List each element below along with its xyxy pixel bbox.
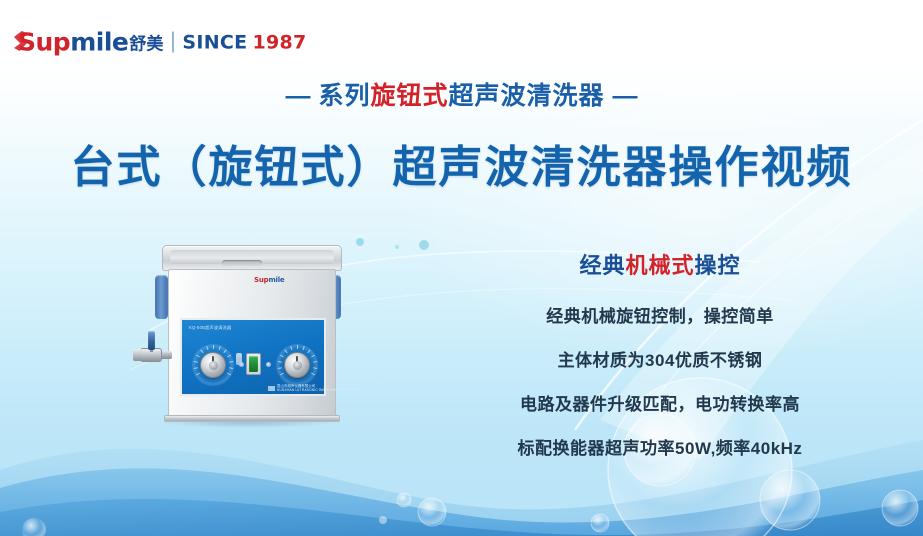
power-switch-rocker[interactable] [249, 356, 258, 372]
logo-chinese-name: 舒美 [129, 30, 163, 55]
product-brand-red: Sup [254, 276, 268, 284]
logo-mile-text: mile [70, 28, 128, 57]
indicator-led-right [266, 362, 271, 367]
ultrasonic-cleaner-image: Supmile KQ-50B超声波清洗器 [150, 245, 346, 425]
feature-list: 经典机械式操控 经典机械旋钮控制，操控简单 主体材质为304优质不锈钢 电路及器… [470, 248, 850, 459]
tank-lid-grip [222, 260, 262, 266]
control-panel-model-label: KQ-50B超声波清洗器 [189, 325, 231, 331]
subtitle-part-one: 系列 [318, 82, 370, 110]
feature-heading-highlight: 机械式 [625, 253, 694, 278]
poster-canvas: Supmile舒美 SINCE 1987 — 系列旋钮式超声波清洗器 — 台式（… [0, 0, 923, 536]
drain-valve-handle[interactable] [148, 331, 155, 350]
page-title: 台式（旋钮式）超声波清洗器操作视频 [0, 131, 923, 195]
panel-footer-subtext: KUNSHAN ULTRASONIC INSTRUMENT CO.,LTD [277, 388, 357, 392]
heater-knob[interactable] [284, 352, 310, 378]
brand-logo[interactable]: Supmile舒美 SINCE 1987 [18, 28, 307, 57]
feature-line: 标配换能器超声功率50W,频率40kHz [470, 434, 850, 459]
logo-sup-text: Sup [18, 28, 70, 57]
tank-lid [162, 245, 342, 271]
subtitle-dash-right: — [612, 82, 637, 110]
page-header: Supmile舒美 SINCE 1987 [0, 0, 923, 62]
logo-year-text: 1987 [252, 31, 306, 53]
subtitle-highlight: 旋钮式 [370, 82, 448, 110]
feature-heading-part-one: 经典 [579, 253, 625, 278]
panel-manufacturer-mark: 昆山市超声仪器有限公司 KUNSHAN ULTRASONIC INSTRUMEN… [268, 384, 357, 393]
drain-valve-nut [133, 349, 142, 361]
neon-lamp [236, 353, 242, 365]
product-brand-label: Supmile [254, 276, 284, 284]
timer-knob-assembly[interactable] [192, 344, 234, 386]
product-base [164, 415, 340, 422]
feature-heading-part-two: 操控 [695, 253, 741, 278]
control-panel: KQ-50B超声波清洗器 [180, 318, 326, 396]
power-switch[interactable] [246, 353, 261, 375]
heater-knob-assembly[interactable] [276, 344, 318, 386]
subtitle-dash-left: — [286, 82, 311, 110]
timer-knob[interactable] [200, 352, 226, 378]
timer-knob-hub [209, 361, 218, 370]
subtitle-part-two: 超声波清洗器 [449, 82, 605, 110]
feature-heading: 经典机械式操控 [470, 248, 850, 280]
feature-line: 电路及器件升级匹配，电功转换率高 [470, 390, 850, 415]
manufacturer-logo-icon [268, 386, 275, 391]
logo-divider [172, 32, 174, 53]
series-subtitle: — 系列旋钮式超声波清洗器 — [0, 76, 923, 112]
logo-since-text: SINCE [182, 31, 247, 53]
tank-handle-left [155, 275, 168, 319]
feature-line: 经典机械旋钮控制，操控简单 [470, 302, 850, 327]
feature-line: 主体材质为304优质不锈钢 [470, 346, 850, 371]
product-brand-blue: mile [268, 276, 284, 284]
heater-knob-hub [293, 361, 302, 370]
